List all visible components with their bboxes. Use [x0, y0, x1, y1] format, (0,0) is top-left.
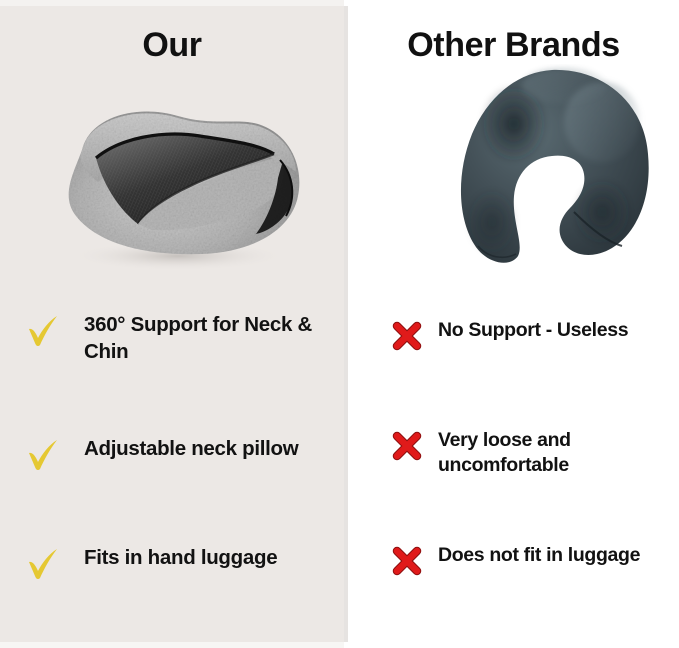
other-brands-title: Other Brands [348, 26, 679, 65]
feature-label: No Support - Useless [438, 318, 628, 343]
our-pillow-image [42, 88, 310, 270]
feature-row-our-3: Fits in hand luggage [26, 545, 336, 581]
feature-row-our-1: 360° Support for Neck & Chin [26, 312, 336, 365]
feature-label: Very loose and uncomfortable [438, 428, 653, 479]
feature-label: Adjustable neck pillow [84, 436, 298, 463]
feature-row-other-2: Very loose and uncomfortable [392, 428, 679, 479]
red-x-icon [392, 546, 422, 576]
yellow-check-icon [26, 438, 60, 472]
red-x-icon [392, 321, 422, 351]
panel-bottom-edge [0, 642, 344, 648]
red-x-icon [392, 431, 422, 461]
our-title: Our [0, 26, 344, 65]
feature-row-other-1: No Support - Useless [392, 318, 679, 351]
feature-label: Fits in hand luggage [84, 545, 277, 572]
panel-top-edge [0, 0, 344, 6]
yellow-check-icon [26, 547, 60, 581]
comparison-infographic: Our Other Brands [0, 0, 679, 648]
feature-label: 360° Support for Neck & Chin [84, 312, 336, 365]
feature-row-other-3: Does not fit in luggage [392, 543, 679, 576]
yellow-check-icon [26, 314, 60, 348]
feature-label: Does not fit in luggage [438, 543, 640, 568]
other-brand-pillow-image [452, 62, 662, 274]
panel-divider [344, 6, 348, 642]
feature-row-our-2: Adjustable neck pillow [26, 436, 336, 472]
